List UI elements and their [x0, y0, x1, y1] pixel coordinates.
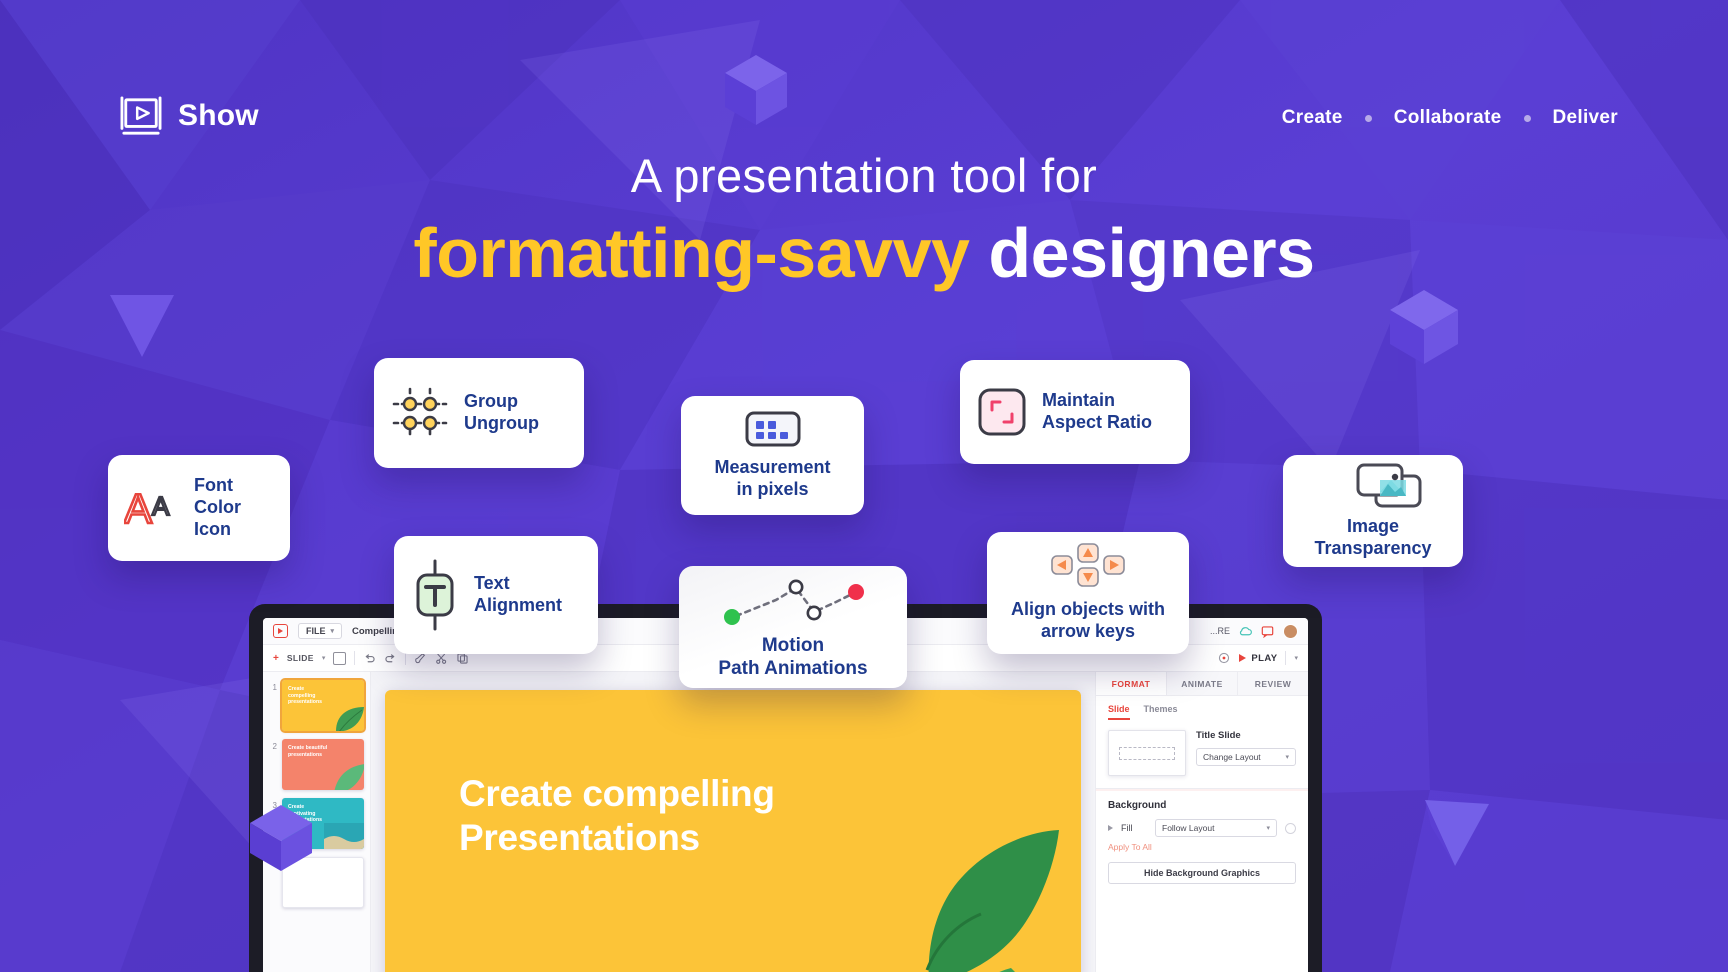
- chevron-down-icon[interactable]: ▾: [322, 654, 326, 662]
- presentation-play-icon: [120, 96, 162, 136]
- chevron-down-icon[interactable]: ▾: [1294, 654, 1298, 662]
- feature-label-font-color: Font Color Icon: [194, 475, 274, 541]
- feature-card-image-transparency[interactable]: Image Transparency: [1283, 455, 1463, 567]
- slide-title-text[interactable]: Create compelling Presentations: [459, 772, 775, 859]
- app-logo-icon: [273, 624, 288, 638]
- file-menu-label: FILE: [306, 626, 326, 636]
- group-ungroup-icon: [392, 387, 448, 439]
- feature-label-aspect-ratio: Maintain Aspect Ratio: [1042, 390, 1152, 434]
- change-layout-select[interactable]: Change Layout ▾: [1196, 748, 1296, 766]
- app-body: 1 Create compelling presentations 2 Crea…: [263, 672, 1308, 972]
- share-button[interactable]: ...RE: [1210, 626, 1230, 636]
- feature-label-motion-path: Motion Path Animations: [718, 634, 867, 680]
- background-heading: Background: [1096, 789, 1308, 816]
- main-nav: Create Collaborate Deliver: [1282, 107, 1618, 129]
- change-layout-label: Change Layout: [1203, 752, 1261, 762]
- chevron-down-icon: ▾: [1285, 753, 1289, 761]
- feature-card-measurement[interactable]: Measurement in pixels: [681, 396, 864, 515]
- feature-card-arrow-keys[interactable]: Align objects with arrow keys: [987, 532, 1189, 654]
- feature-label-text-alignment: Text Alignment: [474, 573, 562, 617]
- image-transparency-icon: [1354, 462, 1426, 510]
- undo-icon[interactable]: [363, 652, 376, 665]
- decor-shard-bottom-right: [1425, 800, 1489, 866]
- subtab-themes[interactable]: Themes: [1144, 704, 1178, 720]
- avatar[interactable]: [1283, 624, 1298, 639]
- slide-number: 2: [269, 739, 277, 751]
- beach-decor-icon: [324, 823, 364, 849]
- slide-canvas-area[interactable]: Create compelling Presentations: [371, 672, 1095, 972]
- decor-shard-right: [1390, 290, 1458, 364]
- subtab-slide[interactable]: Slide: [1108, 704, 1130, 720]
- feature-card-text-alignment[interactable]: Text Alignment: [394, 536, 598, 654]
- toolbar-divider: [1285, 651, 1286, 665]
- font-color-icon: A A: [124, 485, 182, 531]
- inspector-subtabs: Slide Themes: [1096, 696, 1308, 720]
- slide-thumb-item[interactable]: 2 Create beautiful presentations: [269, 739, 364, 790]
- tab-review[interactable]: REVIEW: [1238, 672, 1308, 695]
- layout-controls: Title Slide Change Layout ▾: [1196, 730, 1296, 776]
- slide-label: SLIDE: [287, 653, 314, 663]
- expand-triangle-icon[interactable]: [1108, 825, 1113, 831]
- inspector-panel: FORMAT ANIMATE REVIEW Slide Themes Title…: [1095, 672, 1308, 972]
- tab-animate[interactable]: ANIMATE: [1167, 672, 1238, 695]
- headline-accent: formatting-savvy: [413, 214, 969, 292]
- nav-item-create[interactable]: Create: [1282, 107, 1343, 129]
- add-slide-button[interactable]: +: [273, 653, 279, 664]
- comment-icon[interactable]: [1261, 625, 1274, 638]
- svg-text:A: A: [124, 485, 152, 531]
- cloud-icon[interactable]: [1239, 625, 1252, 638]
- fill-label: Fill: [1121, 823, 1147, 833]
- play-label: PLAY: [1251, 653, 1277, 664]
- apply-to-all-link[interactable]: Apply To All: [1096, 840, 1308, 852]
- hero-headline: A presentation tool for formatting-savvy…: [0, 150, 1728, 291]
- play-triangle-icon: [1239, 654, 1246, 662]
- inspector-tabs: FORMAT ANIMATE REVIEW: [1096, 672, 1308, 696]
- motion-path-icon: [718, 574, 868, 626]
- decor-shard-left: [110, 295, 174, 357]
- feature-label-group-ungroup: Group Ungroup: [464, 391, 539, 435]
- brand-logo[interactable]: Show: [120, 96, 259, 136]
- active-slide[interactable]: Create compelling Presentations: [385, 690, 1081, 972]
- fill-select[interactable]: Follow Layout ▾: [1155, 819, 1277, 837]
- feature-label-measurement: Measurement in pixels: [714, 457, 830, 501]
- measurement-pixels-icon: [745, 411, 801, 447]
- monstera-leaf-graphic: [861, 818, 1071, 972]
- arrow-keys-icon: [1045, 543, 1131, 589]
- headline-plain: designers: [969, 214, 1314, 292]
- feature-label-image-transparency: Image Transparency: [1314, 516, 1431, 560]
- slide-thumbnail[interactable]: Create beautiful presentations: [282, 739, 364, 790]
- feature-card-font-color[interactable]: A A Font Color Icon: [108, 455, 290, 561]
- slide-thumbnail[interactable]: Create compelling presentations: [282, 680, 364, 731]
- leaf-decor-icon: [331, 763, 364, 790]
- layout-preview[interactable]: [1108, 730, 1186, 776]
- layout-title: Title Slide: [1196, 730, 1296, 741]
- tab-format[interactable]: FORMAT: [1096, 672, 1167, 695]
- chevron-down-icon: ▾: [331, 627, 335, 635]
- brand-name: Show: [178, 99, 259, 133]
- play-button[interactable]: PLAY: [1239, 653, 1277, 664]
- fill-row: Fill Follow Layout ▾: [1096, 816, 1308, 840]
- slide-thumb-title: Create beautiful presentations: [288, 745, 327, 758]
- fill-value: Follow Layout: [1162, 823, 1214, 833]
- hero-banner: Show Create Collaborate Deliver A presen…: [0, 0, 1728, 972]
- feature-card-motion-path[interactable]: Motion Path Animations: [679, 566, 907, 688]
- headline-line-2: formatting-savvy designers: [0, 216, 1728, 292]
- layout-preview-placeholder: [1119, 747, 1175, 760]
- layout-section: Title Slide Change Layout ▾: [1096, 720, 1308, 786]
- feature-card-aspect-ratio[interactable]: Maintain Aspect Ratio: [960, 360, 1190, 464]
- slide-number: 1: [269, 680, 277, 692]
- hide-background-graphics-button[interactable]: Hide Background Graphics: [1108, 862, 1296, 884]
- decor-shard-bottom-left: [250, 805, 312, 871]
- layout-grid-icon[interactable]: [333, 652, 346, 665]
- text-alignment-icon: [412, 559, 458, 631]
- headline-line-1: A presentation tool for: [0, 150, 1728, 202]
- slide-thumb-item[interactable]: 1 Create compelling presentations: [269, 680, 364, 731]
- redo-icon[interactable]: [384, 652, 397, 665]
- nav-item-deliver[interactable]: Deliver: [1553, 107, 1618, 129]
- svg-text:A: A: [152, 491, 170, 521]
- slide-thumb-title: Create compelling presentations: [288, 686, 327, 706]
- nav-separator-dot: [1365, 115, 1372, 122]
- file-menu-button[interactable]: FILE ▾: [298, 623, 342, 639]
- feature-label-arrow-keys: Align objects with arrow keys: [1011, 599, 1165, 643]
- chevron-down-icon: ▾: [1266, 824, 1270, 832]
- color-swatch[interactable]: [1285, 823, 1296, 834]
- nav-item-collaborate[interactable]: Collaborate: [1394, 107, 1502, 129]
- nav-separator-dot: [1524, 115, 1531, 122]
- settings-gear-icon[interactable]: [1217, 651, 1231, 665]
- leaf-decor-icon: [332, 705, 364, 731]
- app-toolbar-right: ...RE: [1210, 624, 1298, 639]
- aspect-ratio-icon: [978, 388, 1026, 436]
- toolbar-divider: [354, 651, 355, 665]
- feature-card-group-ungroup[interactable]: Group Ungroup: [374, 358, 584, 468]
